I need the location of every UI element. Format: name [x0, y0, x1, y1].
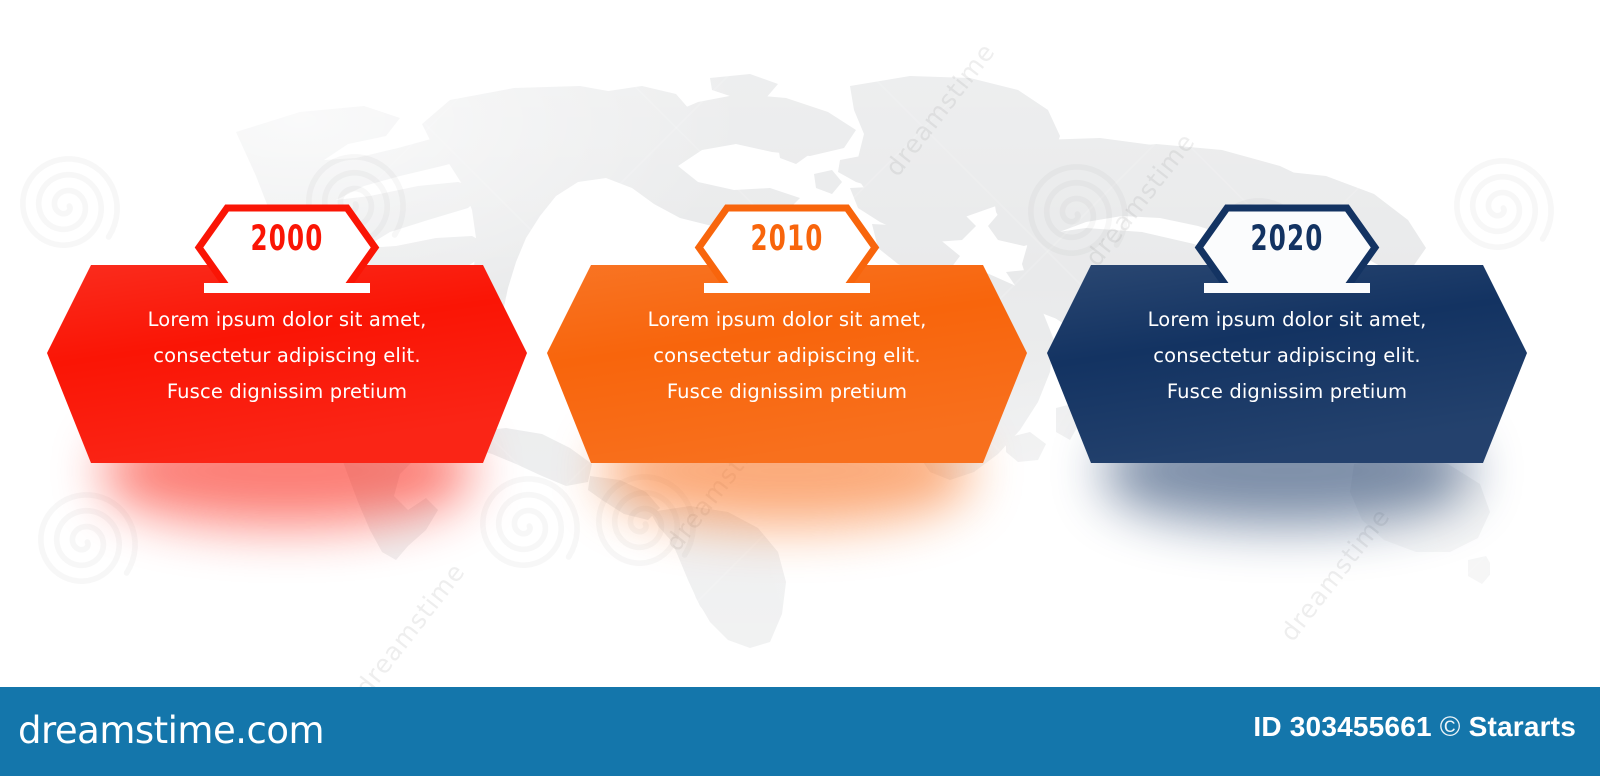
card-body-text: Lorem ipsum dolor sit amet,consectetur a…	[101, 302, 473, 410]
image-credit: ID 303455661 © Stararts	[1253, 711, 1576, 743]
copyright-symbol: ©	[1440, 711, 1461, 742]
card-body-line: Fusce dignissim pretium	[101, 374, 473, 410]
card-2010[interactable]: 2010Lorem ipsum dolor sit amet,consectet…	[547, 188, 1027, 488]
author-name: Stararts	[1469, 711, 1576, 742]
card-2020[interactable]: 2020Lorem ipsum dolor sit amet,consectet…	[1047, 188, 1527, 488]
card-body-text: Lorem ipsum dolor sit amet,consectetur a…	[1101, 302, 1473, 410]
dreamstime-footer-bar: dreamstime.com ID 303455661 © Stararts	[0, 687, 1600, 776]
card-body-line: consectetur adipiscing elit.	[101, 338, 473, 374]
dreamstime-logo[interactable]: dreamstime.com	[18, 707, 324, 755]
image-id-label: ID 303455661	[1253, 711, 1431, 742]
dreamstime-logo-text: dreamstime.com	[18, 707, 324, 755]
card-body-line: consectetur adipiscing elit.	[601, 338, 973, 374]
badge-seam-cover	[204, 283, 370, 293]
card-body-line: Lorem ipsum dolor sit amet,	[1101, 302, 1473, 338]
card-body-line: Fusce dignissim pretium	[601, 374, 973, 410]
card-body-line: Fusce dignissim pretium	[1101, 374, 1473, 410]
card-year-label: 2010	[600, 217, 974, 261]
card-body-text: Lorem ipsum dolor sit amet,consectetur a…	[601, 302, 973, 410]
badge-seam-cover	[704, 283, 870, 293]
card-year-label: 2000	[100, 217, 474, 261]
card-body-line: Lorem ipsum dolor sit amet,	[601, 302, 973, 338]
card-year-label: 2020	[1100, 217, 1474, 261]
infographic-canvas: dreamstimedreamstimedreamstimedreamstime…	[0, 0, 1600, 776]
badge-seam-cover	[1204, 283, 1370, 293]
card-body-line: consectetur adipiscing elit.	[1101, 338, 1473, 374]
card-body-line: Lorem ipsum dolor sit amet,	[101, 302, 473, 338]
card-2000[interactable]: 2000Lorem ipsum dolor sit amet,consectet…	[47, 188, 527, 488]
